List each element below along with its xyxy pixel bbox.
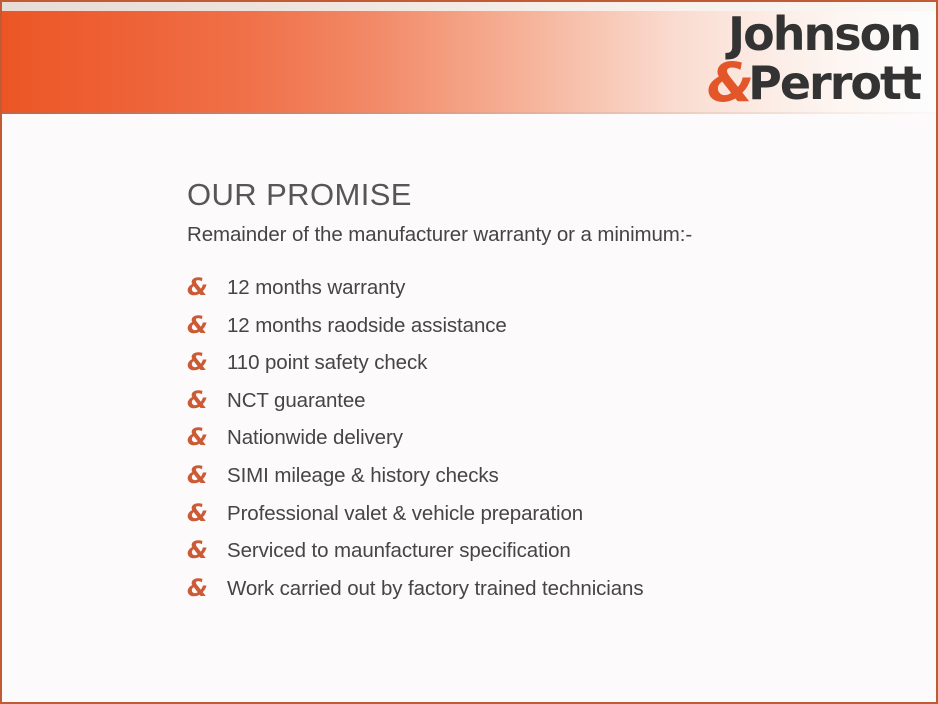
logo-second-line: & Perrott bbox=[690, 54, 920, 108]
list-item: & Serviced to maunfacturer specification bbox=[187, 532, 906, 570]
logo-perrott-text: Perrott bbox=[748, 60, 920, 106]
promise-list: & 12 months warranty & 12 months raodsid… bbox=[187, 269, 906, 607]
ampersand-bullet-icon: & bbox=[187, 538, 227, 562]
promise-subtitle: Remainder of the manufacturer warranty o… bbox=[187, 223, 906, 248]
promise-slide: Johnson & Perrott OUR PROMISE Remainder … bbox=[0, 0, 938, 704]
list-item: & Work carried out by factory trained te… bbox=[187, 570, 906, 608]
ampersand-bullet-icon: & bbox=[187, 275, 227, 299]
list-item-label: Professional valet & vehicle preparation bbox=[227, 502, 583, 526]
list-item: & Nationwide delivery bbox=[187, 420, 906, 458]
list-item: & 110 point safety check bbox=[187, 344, 906, 382]
list-item: & Professional valet & vehicle preparati… bbox=[187, 495, 906, 533]
ampersand-bullet-icon: & bbox=[187, 425, 227, 449]
list-item: & SIMI mileage & history checks bbox=[187, 457, 906, 495]
list-item: & 12 months warranty bbox=[187, 269, 906, 307]
ampersand-bullet-icon: & bbox=[187, 463, 227, 487]
list-item-label: Nationwide delivery bbox=[227, 426, 403, 450]
ampersand-bullet-icon: & bbox=[187, 501, 227, 525]
list-item: & NCT guarantee bbox=[187, 382, 906, 420]
page-title: OUR PROMISE bbox=[187, 177, 906, 213]
list-item-label: 12 months warranty bbox=[227, 276, 405, 300]
list-item: & 12 months raodside assistance bbox=[187, 307, 906, 345]
johnson-perrott-logo: Johnson & Perrott bbox=[690, 8, 920, 110]
list-item-label: SIMI mileage & history checks bbox=[227, 464, 499, 488]
ampersand-bullet-icon: & bbox=[187, 576, 227, 600]
ampersand-bullet-icon: & bbox=[187, 313, 227, 337]
ampersand-bullet-icon: & bbox=[187, 350, 227, 374]
list-item-label: Serviced to maunfacturer specification bbox=[227, 539, 571, 563]
list-item-label: 12 months raodside assistance bbox=[227, 314, 507, 338]
list-item-label: 110 point safety check bbox=[227, 351, 427, 375]
logo-ampersand-icon: & bbox=[707, 56, 750, 110]
ampersand-bullet-icon: & bbox=[187, 388, 227, 412]
list-item-label: Work carried out by factory trained tech… bbox=[227, 577, 644, 601]
promise-content: OUR PROMISE Remainder of the manufacture… bbox=[187, 177, 906, 608]
list-item-label: NCT guarantee bbox=[227, 389, 366, 413]
